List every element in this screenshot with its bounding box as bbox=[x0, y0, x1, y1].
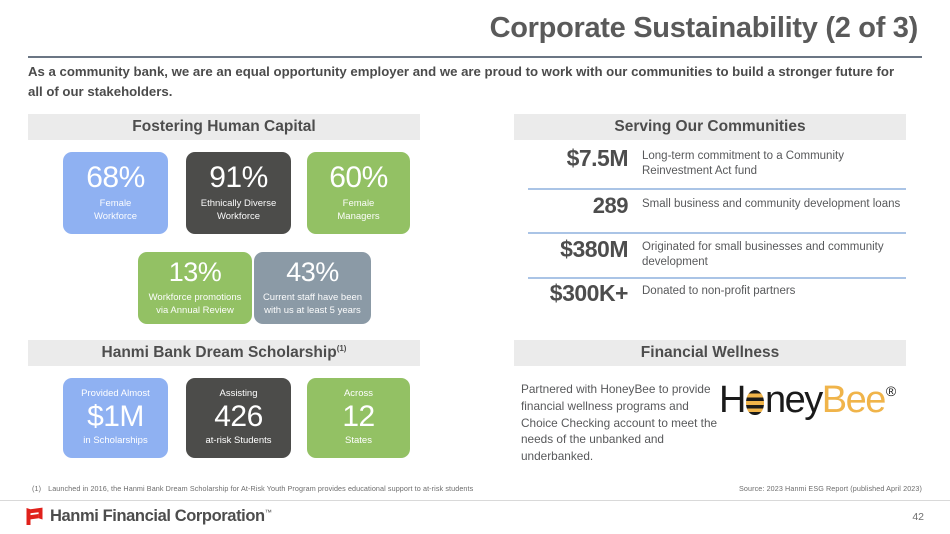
bee-icon bbox=[746, 390, 764, 415]
registered-trademark-icon: ® bbox=[886, 383, 896, 399]
title-divider bbox=[28, 56, 922, 58]
stat-value: 43% bbox=[286, 259, 339, 287]
section-title-wellness: Financial Wellness bbox=[641, 344, 779, 362]
footnote-text: Launched in 2016, the Hanmi Bank Dream S… bbox=[48, 484, 473, 493]
section-title-scholarship: Hanmi Bank Dream Scholarship(1) bbox=[102, 344, 347, 362]
tile-value: $1M bbox=[87, 402, 144, 433]
footnote: (1)Launched in 2016, the Hanmi Bank Drea… bbox=[32, 484, 473, 493]
tile-suffix-label: States bbox=[345, 435, 372, 447]
metric-divider bbox=[528, 232, 906, 234]
page-number: 42 bbox=[912, 511, 924, 523]
tile-prefix-label: Across bbox=[344, 388, 373, 400]
metric-description: Long-term commitment to a Community Rein… bbox=[642, 146, 908, 180]
tile-prefix-label: Assisting bbox=[219, 388, 257, 400]
scholarship-tile-scholarships-provided: Provided Almost $1M in Scholarships bbox=[63, 378, 168, 458]
stat-value: 60% bbox=[329, 163, 388, 194]
metric-value: $380M bbox=[508, 237, 628, 261]
section-header-dream-scholarship: Hanmi Bank Dream Scholarship(1) bbox=[28, 340, 420, 366]
stat-label: Current staff have beenwith us at least … bbox=[263, 291, 362, 317]
tile-suffix-label: in Scholarships bbox=[83, 435, 147, 447]
stat-label: Ethnically DiverseWorkforce bbox=[201, 197, 277, 223]
stat-label: FemaleManagers bbox=[337, 197, 379, 223]
metric-description: Donated to non-profit partners bbox=[642, 281, 795, 299]
stat-tile-workforce-promotions: 13% Workforce promotionsvia Annual Revie… bbox=[138, 252, 252, 324]
metric-divider bbox=[528, 277, 906, 279]
honeybee-logo: H ney Bee ® bbox=[719, 381, 896, 419]
section-title-communities: Serving Our Communities bbox=[614, 118, 805, 136]
tile-value: 12 bbox=[342, 402, 374, 433]
section-title-fostering: Fostering Human Capital bbox=[132, 118, 315, 136]
footnote-marker-superscript: (1) bbox=[337, 344, 347, 353]
section-header-financial-wellness: Financial Wellness bbox=[514, 340, 906, 366]
metric-row-donations: $300K+ Donated to non-profit partners bbox=[508, 281, 908, 305]
metric-row-cra-fund: $7.5M Long-term commitment to a Communit… bbox=[508, 146, 908, 180]
scholarship-tile-students-assisted: Assisting 426 at-risk Students bbox=[186, 378, 291, 458]
stat-tile-female-workforce: 68% FemaleWorkforce bbox=[63, 152, 168, 234]
stat-value: 13% bbox=[169, 259, 222, 287]
metric-row-originated-amount: $380M Originated for small businesses an… bbox=[508, 237, 908, 271]
tile-suffix-label: at-risk Students bbox=[206, 435, 272, 447]
metric-description: Originated for small businesses and comm… bbox=[642, 237, 908, 271]
stat-label: FemaleWorkforce bbox=[94, 197, 137, 223]
stat-value: 91% bbox=[209, 163, 268, 194]
logo-text-part3: Bee bbox=[822, 381, 885, 419]
section-header-fostering-human-capital: Fostering Human Capital bbox=[28, 114, 420, 140]
stat-tile-tenure-five-years: 43% Current staff have beenwith us at le… bbox=[254, 252, 371, 324]
metric-value: 289 bbox=[508, 194, 628, 217]
hanmi-logo-icon bbox=[26, 507, 43, 526]
source-note: Source: 2023 Hanmi ESG Report (published… bbox=[739, 484, 922, 493]
trademark-icon: ™ bbox=[265, 510, 272, 517]
brand-lockup: Hanmi Financial Corporation™ bbox=[26, 507, 271, 526]
brand-name: Hanmi Financial Corporation™ bbox=[50, 507, 271, 526]
metric-value: $7.5M bbox=[508, 146, 628, 170]
slide-canvas: Corporate Sustainability (2 of 3) As a c… bbox=[0, 0, 950, 534]
logo-text-part1: H bbox=[719, 381, 745, 419]
metric-value: $300K+ bbox=[508, 281, 628, 305]
scholarship-tile-states: Across 12 States bbox=[307, 378, 410, 458]
page-title: Corporate Sustainability (2 of 3) bbox=[490, 12, 918, 45]
metric-description: Small business and community development… bbox=[642, 194, 900, 212]
stat-value: 68% bbox=[86, 163, 145, 194]
footnote-marker: (1) bbox=[32, 484, 41, 493]
financial-wellness-body: Partnered with HoneyBee to provide finan… bbox=[521, 381, 721, 465]
logo-text-part2: ney bbox=[765, 381, 822, 419]
tile-value: 426 bbox=[214, 402, 263, 433]
stat-label: Workforce promotionsvia Annual Review bbox=[149, 291, 242, 317]
metric-row-small-business-loans: 289 Small business and community develop… bbox=[508, 194, 908, 217]
stat-tile-ethnically-diverse-workforce: 91% Ethnically DiverseWorkforce bbox=[186, 152, 291, 234]
section-header-serving-our-communities: Serving Our Communities bbox=[514, 114, 906, 140]
metric-divider bbox=[528, 188, 906, 190]
stat-tile-female-managers: 60% FemaleManagers bbox=[307, 152, 410, 234]
tile-prefix-label: Provided Almost bbox=[81, 388, 150, 400]
intro-paragraph: As a community bank, we are an equal opp… bbox=[28, 62, 908, 101]
